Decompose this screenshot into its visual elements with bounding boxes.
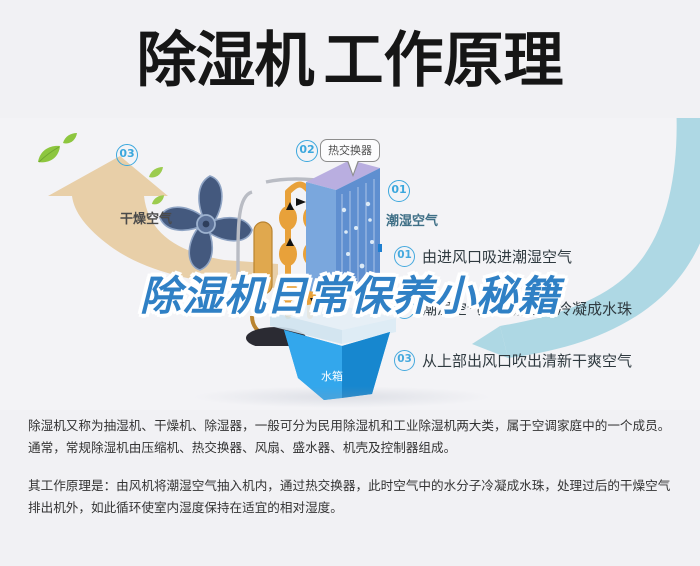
page-title-part2: 工作原理 [324,26,564,96]
step-text: 从上部出风口吹出清新干爽空气 [422,350,632,371]
list-item: 03 从上部出风口吹出清新干爽空气 [394,344,694,377]
list-item: 02 潮湿空气经过蒸发器冷凝成水珠 [394,292,694,325]
evaporator-block-graphic [300,158,382,308]
body-paragraph-2: 其工作原理是：由风机将潮湿空气抽入机内，通过热交换器，此时空气中的水分子冷凝成水… [28,475,674,519]
page-title-part1: 除湿机 [137,26,314,96]
step-number: 02 [394,298,415,319]
label-dry-air: 干燥空气 [120,208,172,227]
step-text: 潮湿空气经过蒸发器冷凝成水珠 [422,298,632,319]
page-title: 除湿机工作原理 [137,31,564,91]
leaf-icon [36,144,62,166]
page-header: 除湿机工作原理 [0,0,700,122]
callout-heat-exchanger: 热交换器 [320,139,380,162]
badge-humid-air: 01 [388,180,410,202]
leaf-icon [62,132,78,146]
poster-root: 除湿机工作原理 [0,0,700,566]
label-humid-air: 潮湿空气 [386,210,438,229]
step-number: 01 [394,246,415,267]
list-item: 01 由进风口吸进潮湿空气 [394,240,694,273]
svg-text:水箱: 水箱 [321,369,343,383]
step-list: 01 由进风口吸进潮湿空气 02 潮湿空气经过蒸发器冷凝成水珠 03 从上部出风… [394,240,694,396]
step-number: 03 [394,350,415,371]
step-text: 由进风口吸进潮湿空气 [422,246,572,267]
article-body: 除湿机又称为抽湿机、干燥机、除湿器，一般可分为民用除湿机和工业除湿机两大类，属于… [28,415,674,519]
badge-dry-air: 03 [116,144,138,166]
badge-heat-exchanger: 02 [296,140,318,162]
body-paragraph-1: 除湿机又称为抽湿机、干燥机、除湿器，一般可分为民用除湿机和工业除湿机两大类，属于… [28,415,674,459]
